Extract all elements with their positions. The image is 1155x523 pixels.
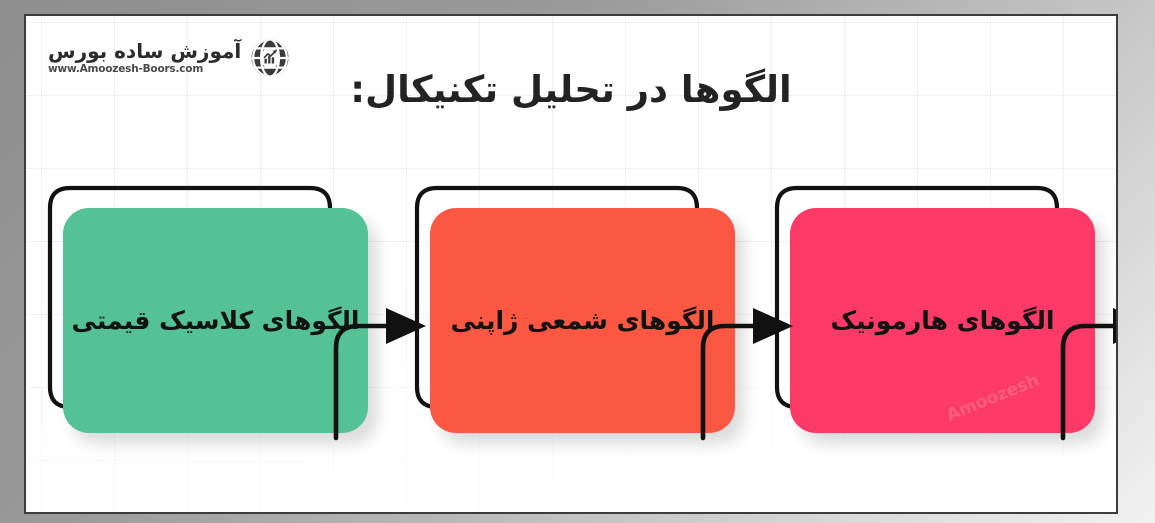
step-label-3: الگوهای هارمونیک — [825, 306, 1061, 336]
flow-step-2[interactable]: الگوهای شمعی ژاپنی — [413, 166, 763, 456]
step-label-2: الگوهای شمعی ژاپنی — [445, 306, 721, 336]
step-connector-1 — [314, 208, 434, 438]
flow-diagram: الگوهای کلاسیک قیمتی الگوهای شمعی ژاپنی — [26, 166, 1118, 466]
page-title: الگوها در تحلیل تکنیکال: — [26, 68, 1116, 111]
brand-name: آموزش ساده بورس — [48, 41, 241, 61]
step-connector-2 — [681, 208, 801, 438]
flow-step-1[interactable]: الگوهای کلاسیک قیمتی — [46, 166, 396, 456]
infographic-root: آموزش ساده بورس www.Amoozesh-Boors.com ا… — [0, 0, 1155, 523]
canvas-frame: آموزش ساده بورس www.Amoozesh-Boors.com ا… — [24, 14, 1118, 514]
flow-step-3[interactable]: الگوهای هارمونیک — [773, 166, 1118, 456]
step-connector-3 — [1041, 208, 1118, 438]
